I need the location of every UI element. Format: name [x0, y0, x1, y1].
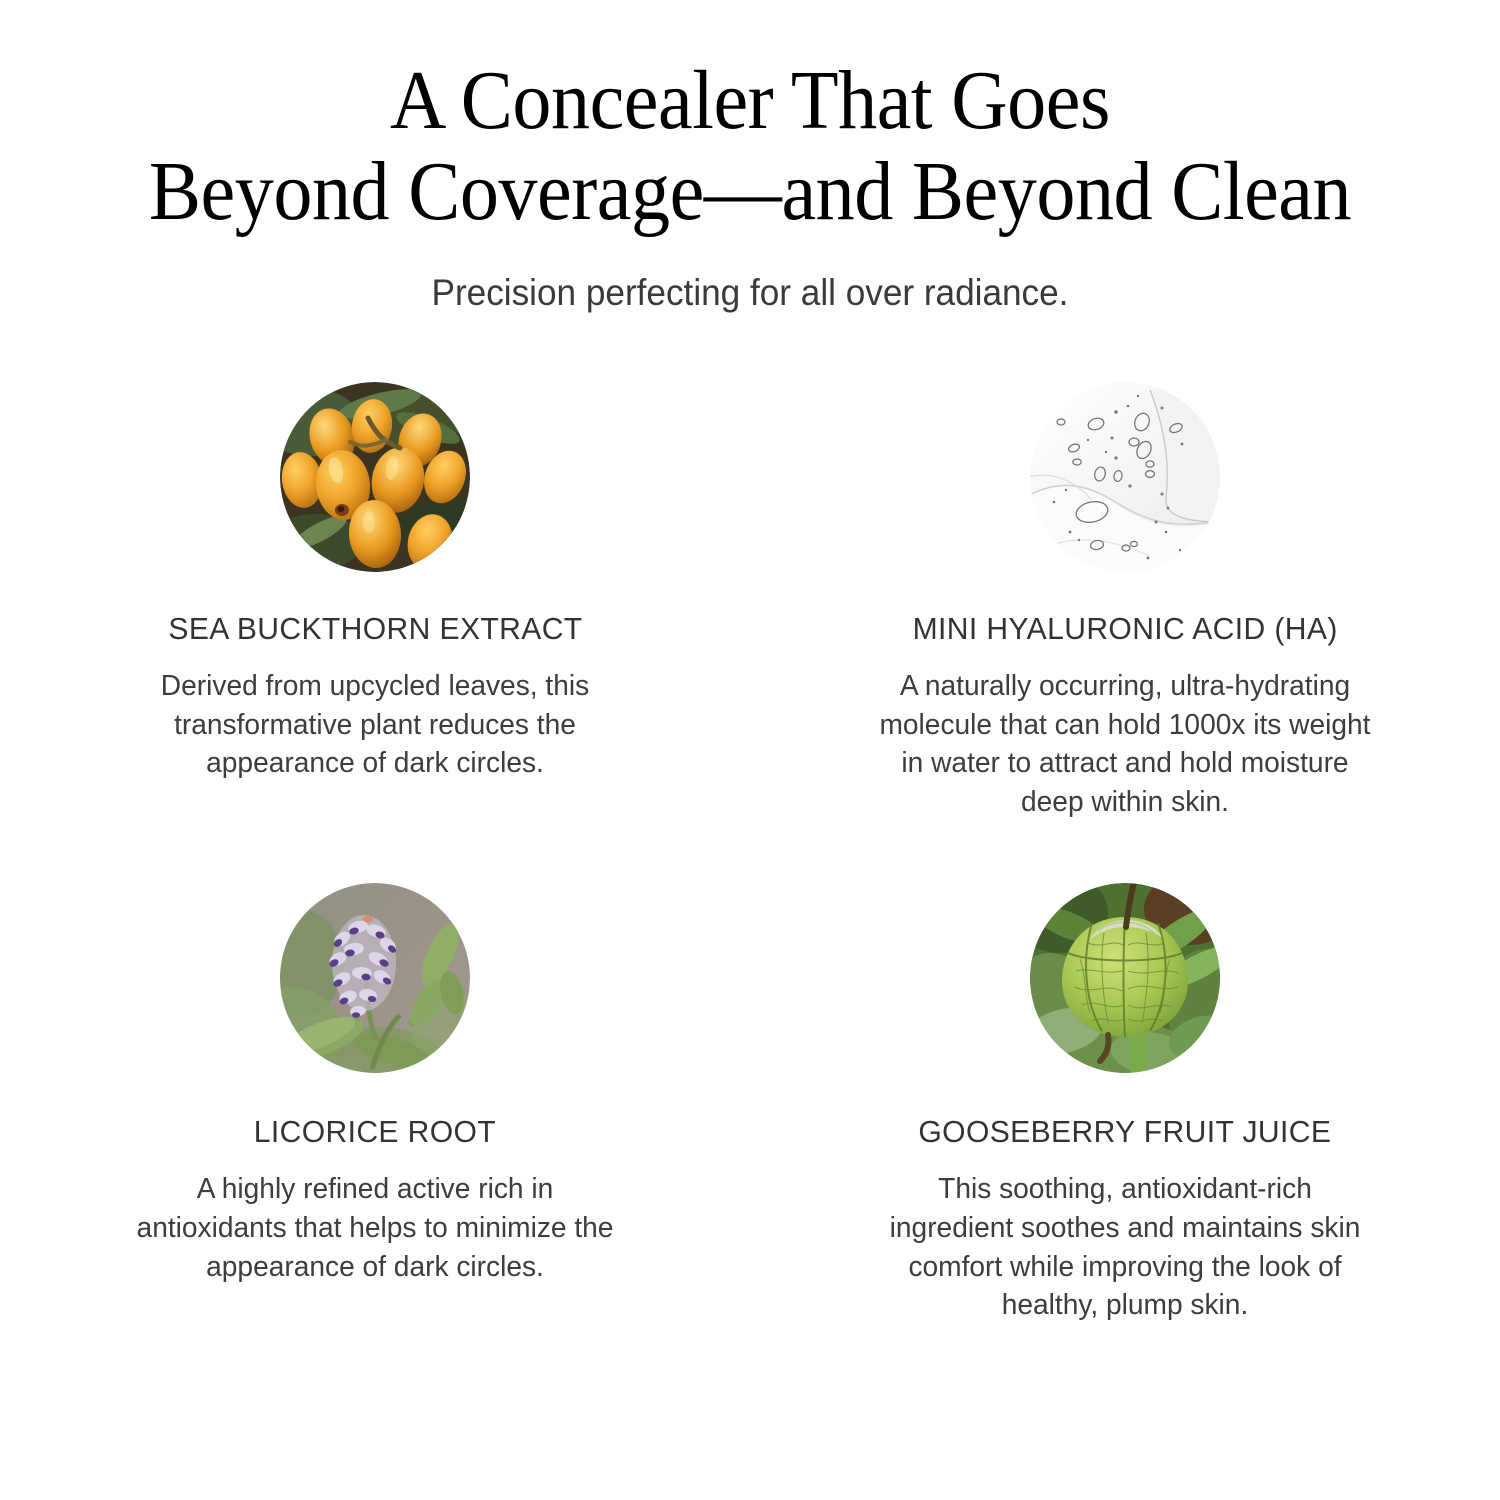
ingredient-card-hyaluronic-acid: MINI HYALURONIC ACID (HA) A naturally oc… [750, 382, 1500, 821]
ingredient-card-licorice-root: LICORICE ROOT A highly refined active ri… [0, 883, 750, 1324]
ingredient-title: GOOSEBERRY FRUIT JUICE [919, 1113, 1332, 1150]
page-header: A Concealer That Goes Beyond Coverage—an… [0, 0, 1500, 316]
ingredient-title: LICORICE ROOT [254, 1113, 496, 1150]
gooseberry-fruit-husk-photo [1030, 883, 1220, 1073]
ingredient-title: SEA BUCKTHORN EXTRACT [168, 610, 582, 647]
page-subtitle: Precision perfecting for all over radian… [38, 271, 1463, 315]
ingredient-description: This soothing, antioxidant-rich ingredie… [873, 1170, 1377, 1324]
ingredient-description: A naturally occurring, ultra-hydrating m… [873, 667, 1377, 821]
ingredient-title: MINI HYALURONIC ACID (HA) [912, 610, 1337, 647]
page-title: A Concealer That Goes Beyond Coverage—an… [53, 56, 1448, 237]
headline-line-2: Beyond Coverage—and Beyond Clean [53, 147, 1448, 238]
hyaluronic-acid-gel-texture-photo [1030, 382, 1220, 572]
ingredient-grid: SEA BUCKTHORN EXTRACT Derived from upcyc… [0, 382, 1500, 1325]
sea-buckthorn-berries-photo [280, 382, 470, 572]
licorice-root-flower-photo [280, 883, 470, 1073]
ingredient-benefits-page: A Concealer That Goes Beyond Coverage—an… [0, 0, 1500, 1500]
ingredient-card-sea-buckthorn: SEA BUCKTHORN EXTRACT Derived from upcyc… [0, 382, 750, 821]
headline-line-1: A Concealer That Goes [53, 56, 1448, 147]
ingredient-description: A highly refined active rich in antioxid… [123, 1170, 627, 1286]
ingredient-description: Derived from upcycled leaves, this trans… [123, 667, 627, 783]
ingredient-card-gooseberry: GOOSEBERRY FRUIT JUICE This soothing, an… [750, 883, 1500, 1324]
